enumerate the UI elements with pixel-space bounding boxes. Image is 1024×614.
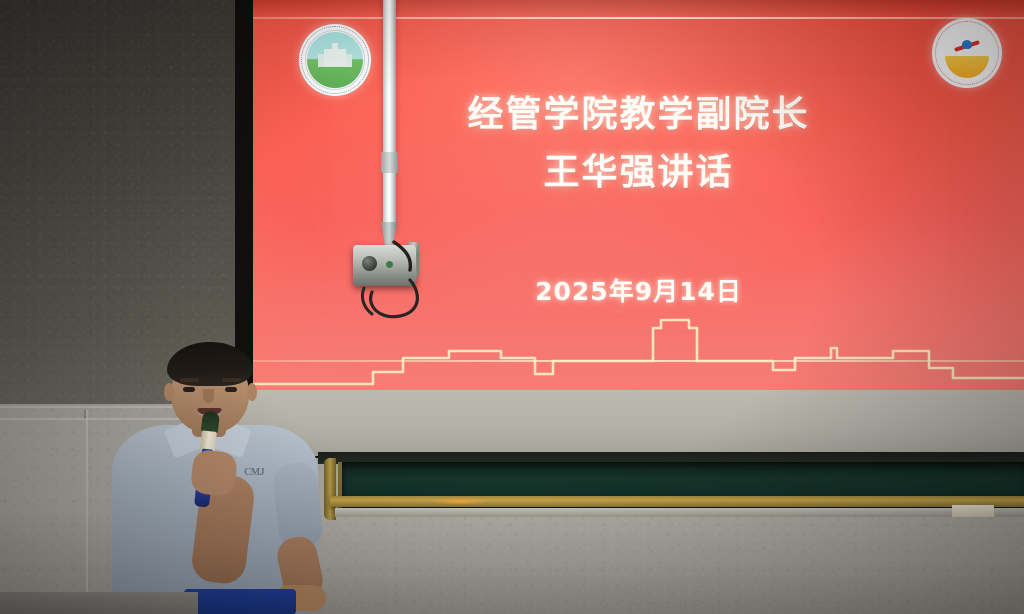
ceiling-pole — [383, 0, 396, 234]
chalk-rail-highlight — [430, 498, 490, 505]
presenter-ear-right — [247, 383, 257, 401]
slide-top-shade — [253, 0, 1024, 16]
city-skyline-graphic — [253, 312, 1024, 390]
presenter-eye-left — [183, 387, 195, 392]
front-desk-edge — [0, 592, 198, 614]
screen-lower-blank-band — [235, 390, 1024, 456]
presenter-brow-right — [222, 378, 241, 382]
projection-screen-surface: 经管学院教学副院长 王华强讲话 2025年9月14日 — [253, 0, 1024, 392]
presenter-ear-left — [164, 383, 174, 401]
pole-joint-collar — [381, 152, 398, 173]
slide-title-line-2: 王华强讲话 — [253, 144, 1024, 202]
camera-status-led — [386, 261, 393, 268]
camera-lens-icon — [362, 256, 377, 271]
slide-bottom-rule — [253, 360, 1024, 362]
presenter-figure: CMJ — [100, 345, 330, 614]
presenter-nose — [203, 389, 214, 403]
wall-panel-seam-vertical — [86, 410, 88, 596]
presentation-photo-scene: 经管学院教学副院长 王华强讲话 2025年9月14日 — [0, 0, 1024, 614]
slide-title-line-1: 经管学院教学副院长 — [253, 86, 1024, 144]
presenter-trousers — [184, 589, 296, 614]
slide-title-block: 经管学院教学副院长 王华强讲话 — [253, 86, 1024, 203]
chalk-rail-lower-edge — [335, 508, 1024, 517]
presenter-right-hand — [190, 449, 238, 497]
projection-screen-frame: 经管学院教学副院长 王华强讲话 2025年9月14日 — [235, 0, 1024, 458]
institute-emblem-right-icon — [932, 18, 1002, 88]
chalk-piece — [952, 505, 994, 517]
presenter-eye-right — [225, 387, 237, 392]
presenter-shirt-logo: CMJ — [244, 467, 274, 479]
presenter-brow-left — [180, 378, 199, 382]
slide-top-rule — [253, 17, 1024, 19]
recording-camera-icon — [353, 245, 416, 286]
